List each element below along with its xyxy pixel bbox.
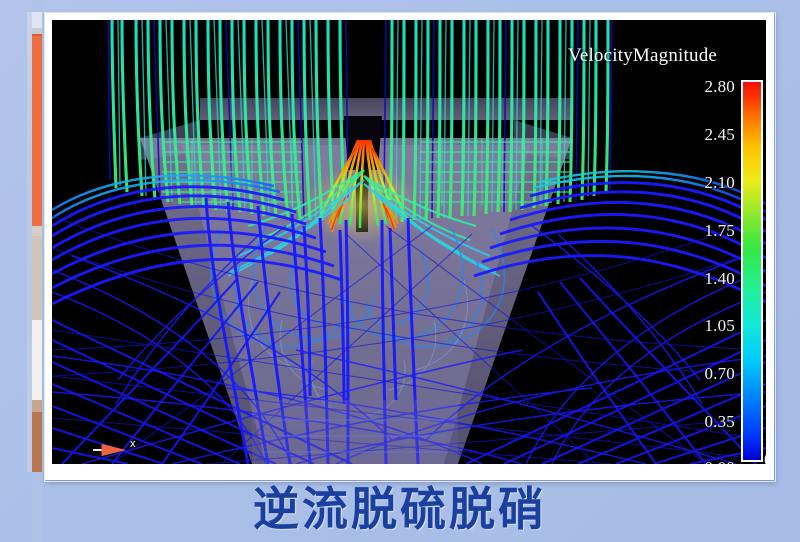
colorbar-tick-5: 1.05 (689, 317, 735, 334)
colorbar-tick-labels: 2.80 2.45 2.10 1.75 1.40 1.05 0.70 0.35 … (689, 76, 735, 464)
colorbar-widget[interactable]: 2.80 2.45 2.10 1.75 1.40 1.05 0.70 0.35 … (689, 76, 766, 464)
cone-bottom-haze (252, 400, 458, 464)
colorbar-tick-6: 0.70 (689, 365, 735, 382)
slide-caption: 逆流脱硫脱硝 (0, 480, 800, 538)
colorbar-tick-0: 2.80 (689, 78, 735, 95)
axis-arrow-icon (92, 437, 148, 463)
colorbar-tick-8: 0.00 (689, 459, 735, 464)
left-edge-artifact-strip (32, 0, 42, 542)
colorbar-tick-4: 1.40 (689, 270, 735, 287)
colorbar-tick-2: 2.10 (689, 174, 735, 191)
slide-root: VelocityMagnitude 2.80 2.45 2.10 1.75 1.… (0, 0, 800, 542)
orientation-axis-widget[interactable]: x (92, 437, 148, 463)
colorbar-data-min-label: 0.00 (764, 451, 766, 464)
cfd-render-canvas[interactable]: VelocityMagnitude 2.80 2.45 2.10 1.75 1.… (52, 20, 766, 464)
axis-label-x: x (130, 439, 136, 450)
colorbar-gradient (741, 80, 763, 462)
colorbar-tick-7: 0.35 (689, 413, 735, 430)
colorbar-title: VelocityMagnitude (568, 46, 717, 65)
colorbar-tick-3: 1.75 (689, 222, 735, 239)
colorbar-tick-1: 2.45 (689, 126, 735, 143)
